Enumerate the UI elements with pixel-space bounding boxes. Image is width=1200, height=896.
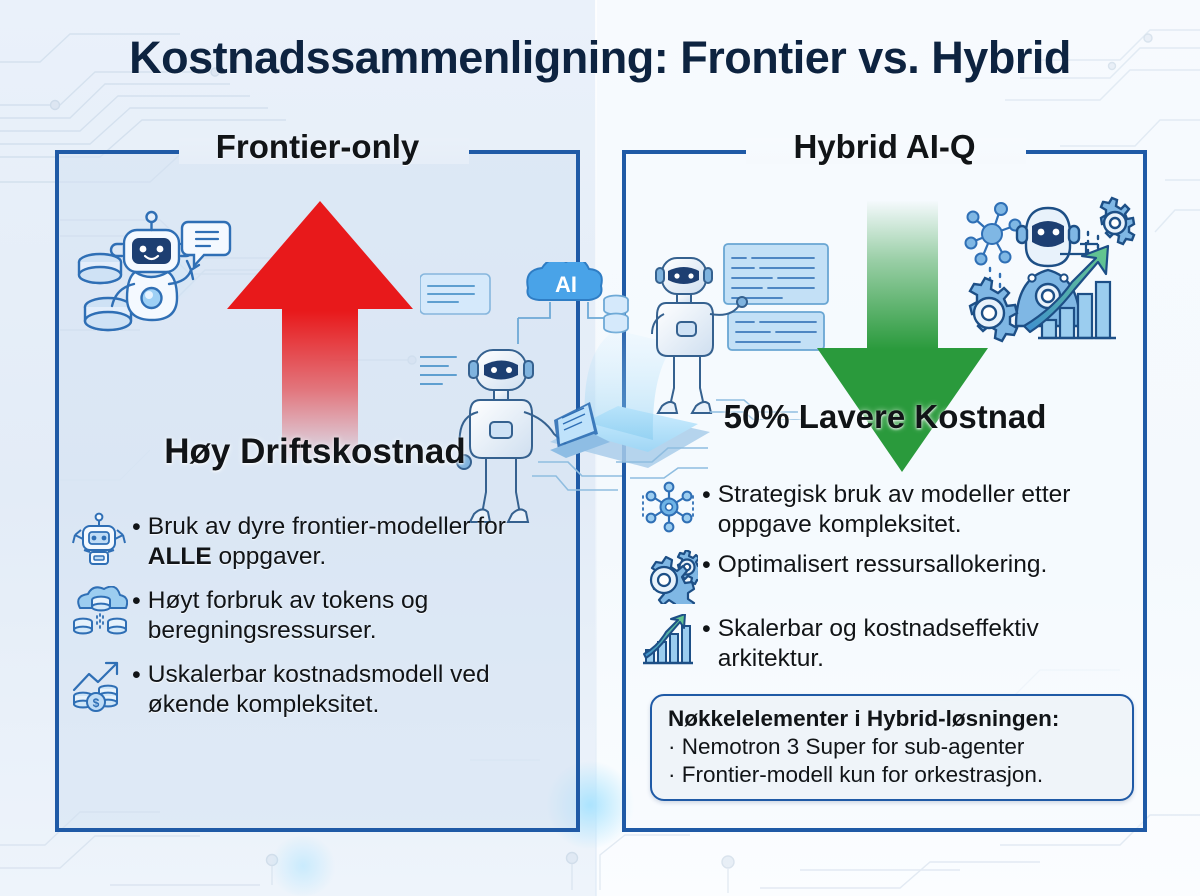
- bullet-list-frontier: • Bruk av dyre frontier-modeller for ALL…: [70, 512, 560, 734]
- bullet-dot: •: [702, 614, 711, 644]
- bullet-dot: •: [702, 480, 711, 510]
- key-elements-item: · Frontier-modell kun for orkestrasjon.: [668, 761, 1116, 789]
- chatbot-mascot-illustration: [62, 192, 237, 342]
- list-item-text: Bruk av dyre frontier-modeller for ALLE …: [148, 512, 548, 572]
- key-elements-title: Nøkkelelementer i Hybrid-løsningen:: [668, 705, 1116, 733]
- list-item-text: Skalerbar og kostnadseffektiv arkitektur…: [718, 614, 1118, 674]
- humanoid-robot-dashboard-illustration: [650, 240, 840, 420]
- bullet-list-hybrid: • Strategisk bruk av modeller etter oppg…: [640, 480, 1135, 684]
- page-title: Kostnadssammenligning: Frontier vs. Hybr…: [0, 32, 1200, 84]
- bullet-dot: •: [132, 660, 141, 690]
- cloud-coins-icon: [70, 586, 128, 640]
- callout-high-cost: Høy Driftskostnad: [80, 432, 550, 472]
- cost-growth-icon: $: [70, 660, 128, 714]
- red-up-arrow: [225, 197, 415, 463]
- list-item-text: Høyt forbruk av tokens og beregningsress…: [148, 586, 548, 646]
- background-glow-2: [268, 836, 338, 896]
- list-item-text: Uskalerbar kostnadsmodell ved økende kom…: [148, 660, 548, 720]
- network-node-icon: [640, 480, 698, 534]
- list-item: • Høyt forbruk av tokens og beregningsre…: [70, 586, 560, 646]
- panel-heading-hybrid: Hybrid AI-Q: [622, 128, 1147, 166]
- list-item-text: Strategisk bruk av modeller etter oppgav…: [718, 480, 1118, 540]
- list-item-text: Optimalisert ressursallokering.: [718, 550, 1048, 580]
- list-item: • Strategisk bruk av modeller etter oppg…: [640, 480, 1135, 540]
- panel-heading-frontier: Frontier-only: [55, 128, 580, 166]
- gears-icon: [640, 550, 698, 604]
- bullet-dot: •: [132, 586, 141, 616]
- key-elements-item: · Nemotron 3 Super for sub-agenter: [668, 733, 1116, 761]
- list-item: $ • Uskalerbar kostnadsmodell ved økende…: [70, 660, 560, 720]
- list-item: • Skalerbar og kostnadseffektiv arkitekt…: [640, 614, 1135, 674]
- callout-lower-cost: 50% Lavere Kostnad: [640, 398, 1130, 436]
- svg-text:$: $: [93, 696, 100, 710]
- infographic-canvas: Kostnadssammenligning: Frontier vs. Hybr…: [0, 0, 1200, 896]
- bullet-dot: •: [132, 512, 141, 542]
- list-item: • Optimalisert ressursallokering.: [640, 550, 1135, 604]
- bullet-dot: •: [702, 550, 711, 580]
- key-elements-box: Nøkkelelementer i Hybrid-løsningen: · Ne…: [650, 694, 1134, 801]
- robot-icon: [70, 512, 128, 566]
- svg-text:AI: AI: [555, 272, 577, 297]
- list-item: • Bruk av dyre frontier-modeller for ALL…: [70, 512, 560, 572]
- growth-chart-icon: [640, 614, 698, 668]
